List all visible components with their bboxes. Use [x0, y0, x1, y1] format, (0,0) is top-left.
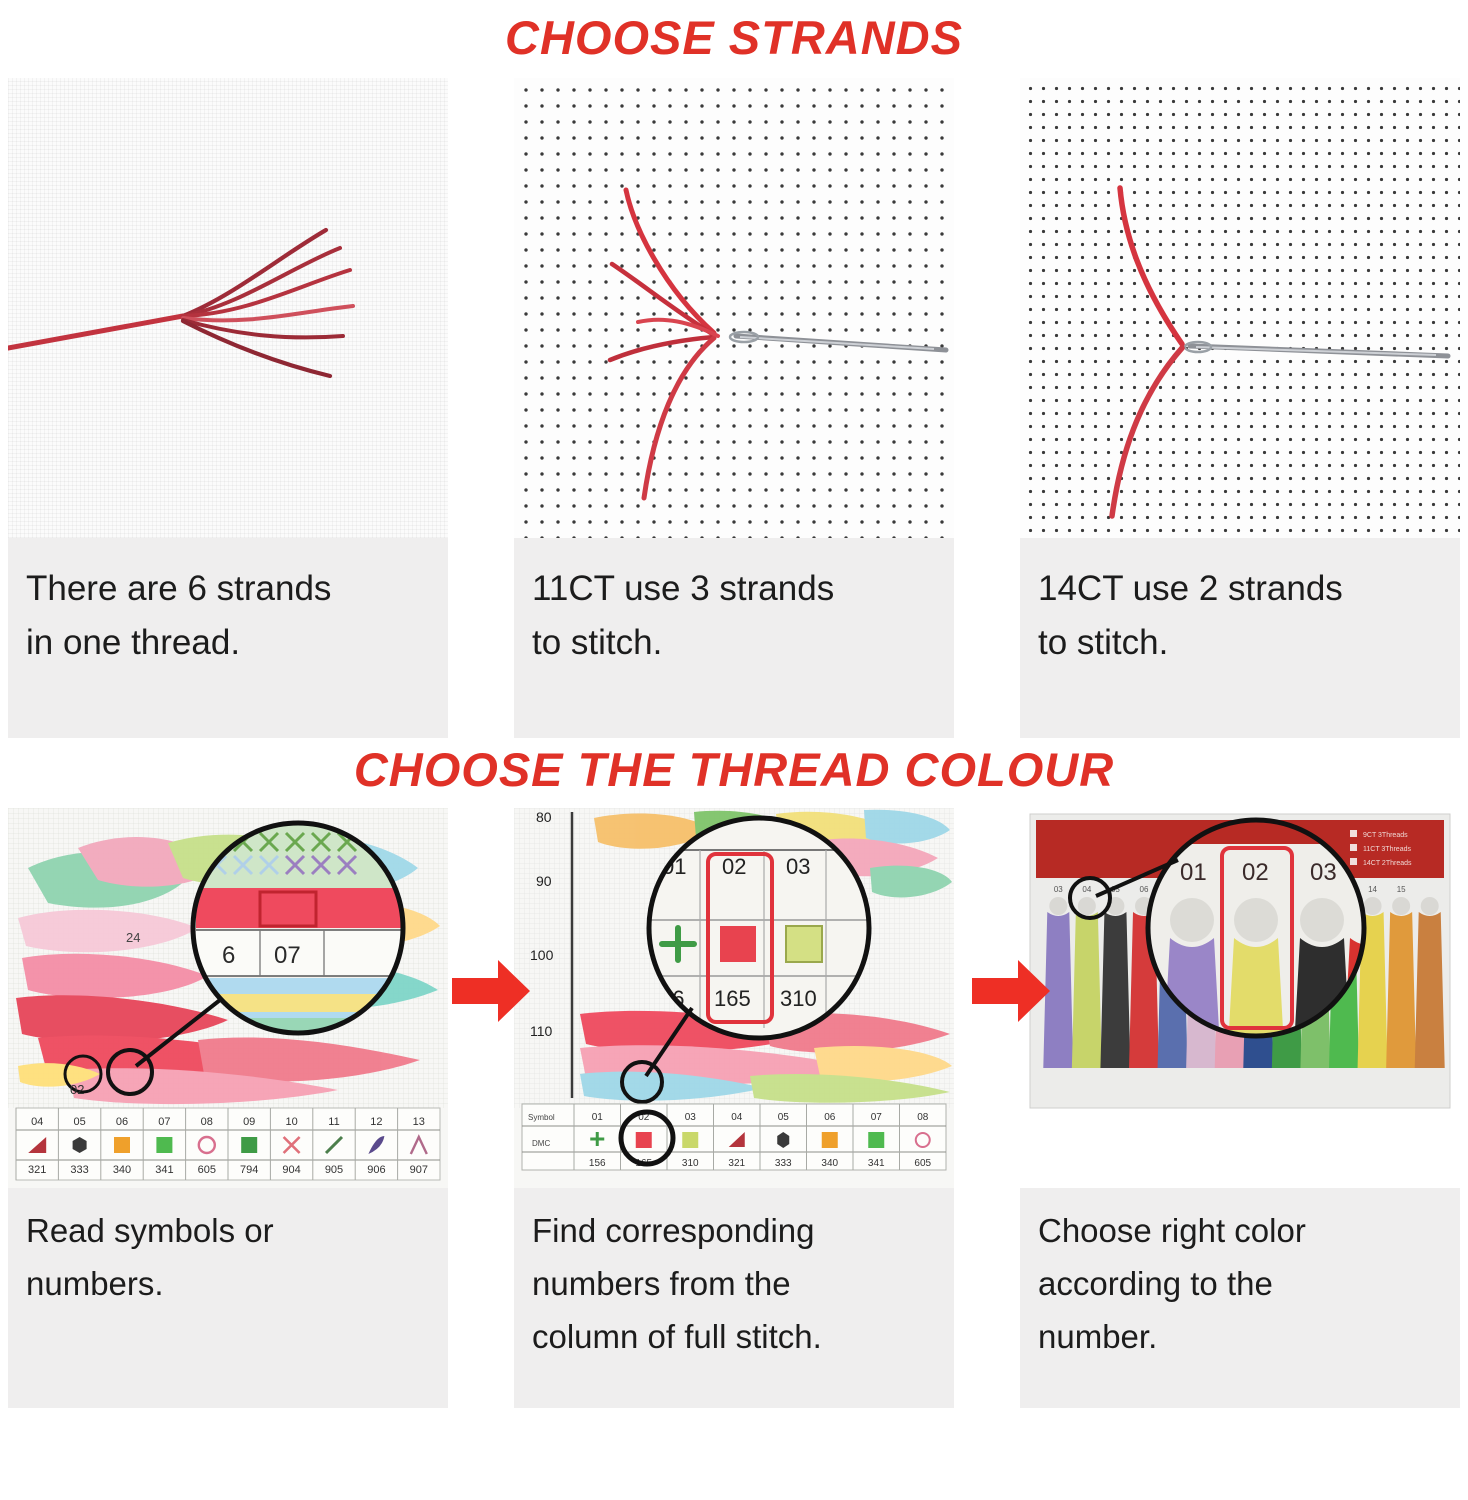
chart-marker-24: 24: [126, 930, 140, 945]
card-six-strands: There are 6 strands in one thread.: [8, 78, 448, 738]
media-pattern-chart: 24 02: [8, 808, 448, 1188]
pattern-chart-illustration: 24 02: [8, 808, 448, 1188]
caption-line-1: 14CT use 2 strands: [1038, 562, 1442, 616]
legend-code: 341: [868, 1158, 885, 1169]
legend-number: 11: [328, 1116, 339, 1128]
caption-line-1: Find corresponding: [532, 1204, 936, 1257]
caption-six-strands: There are 6 strands in one thread.: [8, 538, 448, 738]
svg-text:01: 01: [1180, 859, 1207, 886]
svg-text:310: 310: [780, 986, 817, 1011]
media-six-strands: [8, 78, 448, 538]
slot-number: 03: [1054, 885, 1063, 894]
card-find-numbers: 80 90 100 110: [514, 808, 954, 1408]
legend-number: 07: [871, 1112, 883, 1123]
arrow-right-icon-2: [972, 958, 1050, 1024]
legend-code: 907: [410, 1164, 428, 1176]
caption-line-3: number.: [1038, 1310, 1442, 1363]
card-14ct-two-strands: 14CT use 2 strands to stitch.: [1020, 78, 1460, 738]
strands-card-row: There are 6 strands in one thread.: [0, 78, 1468, 738]
svg-text:02: 02: [722, 854, 746, 879]
legend-number: 01: [592, 1112, 604, 1123]
legend-number: 09: [243, 1116, 255, 1128]
caption-line-1: Choose right color: [1038, 1204, 1442, 1257]
caption-choose-color: Choose right color according to the numb…: [1020, 1188, 1460, 1408]
legend-code: 340: [113, 1164, 131, 1176]
caption-line-2: in one thread.: [26, 616, 430, 670]
svg-text:Symbol: Symbol: [528, 1113, 555, 1122]
legend-number: 08: [917, 1112, 929, 1123]
caption-14ct: 14CT use 2 strands to stitch.: [1020, 538, 1460, 738]
svg-text:9CT 3Threads: 9CT 3Threads: [1363, 832, 1408, 839]
chart-marker-02: 02: [70, 1082, 84, 1097]
page-title-choose-strands: CHOOSE STRANDS: [0, 0, 1468, 70]
legend-number: 10: [285, 1116, 297, 1128]
symbol-column-chart-illustration: 80 90 100 110: [514, 808, 954, 1188]
svg-text:02: 02: [1242, 859, 1269, 886]
media-14ct: [1020, 78, 1460, 538]
legend-code: 904: [282, 1164, 300, 1176]
legend-code: 340: [821, 1158, 838, 1169]
legend-number: 05: [73, 1116, 85, 1128]
legend-code: 310: [682, 1158, 699, 1169]
card-choose-color: Cross Stitch 9CT 3Threads 11CT 3Threads …: [1020, 808, 1460, 1408]
floss-skein: [1072, 912, 1102, 1068]
legend-number: 06: [116, 1116, 128, 1128]
svg-text:03: 03: [1310, 859, 1337, 886]
svg-text:165: 165: [714, 986, 751, 1011]
legend-code: 333: [775, 1158, 792, 1169]
legend-number: 12: [370, 1116, 382, 1128]
legend-code: 341: [155, 1164, 173, 1176]
svg-text:11CT 3Threads: 11CT 3Threads: [1363, 846, 1411, 853]
infographic-page: CHOOSE STRANDS: [0, 0, 1468, 1500]
legend-code: 794: [240, 1164, 258, 1176]
media-symbol-column-chart: 80 90 100 110: [514, 808, 954, 1188]
legend-code: 321: [728, 1158, 745, 1169]
caption-line-3: column of full stitch.: [532, 1310, 936, 1363]
caption-11ct: 11CT use 3 strands to stitch.: [514, 538, 954, 738]
card-read-symbols: 24 02: [8, 808, 448, 1408]
symbol-legend-table: 0432105333063400734108605097941090411905…: [16, 1108, 440, 1180]
caption-line-1: There are 6 strands: [26, 562, 430, 616]
floss-skein: [1100, 912, 1130, 1068]
symbol-dmc-legend-table: Symbol DMC 01156021650331004321053330634…: [522, 1104, 946, 1170]
six-strands-illustration: [8, 78, 448, 538]
svg-text:14CT 2Threads: 14CT 2Threads: [1363, 860, 1412, 867]
floss-skein: [1386, 912, 1416, 1068]
legend-number: 07: [158, 1116, 170, 1128]
colour-card-row: 24 02: [0, 808, 1468, 1408]
svg-text:110: 110: [530, 1023, 553, 1039]
slot-number: 15: [1397, 885, 1406, 894]
needle: [730, 332, 946, 350]
legend-code: 321: [28, 1164, 46, 1176]
legend-number: 03: [685, 1112, 697, 1123]
thread-organizer-illustration: Cross Stitch 9CT 3Threads 11CT 3Threads …: [1020, 808, 1460, 1188]
caption-line-2: numbers from the: [532, 1257, 936, 1310]
legend-code: 605: [198, 1164, 216, 1176]
legend-number: 04: [31, 1116, 43, 1128]
legend-number: 06: [824, 1112, 836, 1123]
legend-code: 906: [367, 1164, 385, 1176]
legend-code: 605: [914, 1158, 931, 1169]
caption-find-numbers: Find corresponding numbers from the colu…: [514, 1188, 954, 1408]
legend-code: 905: [325, 1164, 343, 1176]
caption-line-1: 11CT use 3 strands: [532, 562, 936, 616]
caption-line-2: according to the: [1038, 1257, 1442, 1310]
caption-line-2: to stitch.: [532, 616, 936, 670]
slot-number: 14: [1368, 885, 1377, 894]
magnifier-label-07: 07: [274, 942, 301, 969]
caption-line-2: to stitch.: [1038, 616, 1442, 670]
needle-and-two-strands-illustration: [1020, 78, 1460, 538]
caption-read-symbols: Read symbols or numbers.: [8, 1188, 448, 1408]
legend-number: 05: [778, 1112, 790, 1123]
media-thread-organizer: Cross Stitch 9CT 3Threads 11CT 3Threads …: [1020, 808, 1460, 1188]
arrow-right-icon-1: [452, 958, 530, 1024]
media-11ct: [514, 78, 954, 538]
svg-text:100: 100: [530, 947, 554, 963]
needle-and-three-strands-illustration: [514, 78, 954, 538]
legend-number: 04: [731, 1112, 743, 1123]
svg-text:6: 6: [222, 942, 235, 969]
needle: [1185, 342, 1448, 356]
card-11ct-three-strands: 11CT use 3 strands to stitch.: [514, 78, 954, 738]
legend-number: 13: [413, 1116, 425, 1128]
slot-number: 04: [1082, 885, 1091, 894]
svg-text:80: 80: [536, 809, 552, 825]
floss-skein: [1415, 912, 1445, 1068]
svg-text:90: 90: [536, 873, 552, 889]
legend-code: 333: [70, 1164, 88, 1176]
caption-line-1: Read symbols or: [26, 1204, 430, 1257]
svg-text:03: 03: [786, 854, 810, 879]
caption-line-2: numbers.: [26, 1257, 430, 1310]
page-title-choose-thread-colour: CHOOSE THE THREAD COLOUR: [0, 738, 1468, 802]
legend-code: 156: [589, 1158, 606, 1169]
svg-text:DMC: DMC: [532, 1139, 550, 1148]
legend-number: 08: [201, 1116, 213, 1128]
slot-number: 06: [1140, 885, 1149, 894]
